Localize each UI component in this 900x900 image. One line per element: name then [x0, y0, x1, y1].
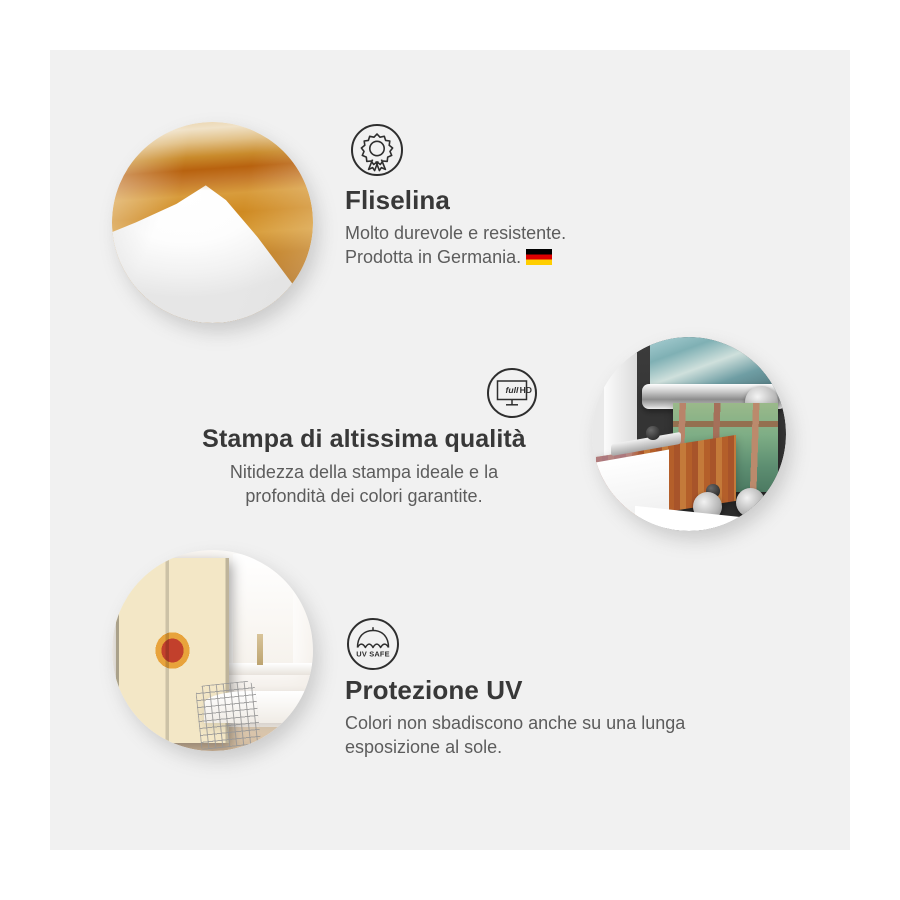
mandala-canvas-room-photo [112, 550, 313, 751]
desc-line-1: Nitidezza della stampa ideale e la [230, 462, 498, 482]
printer-knob [646, 426, 660, 440]
wire-mesh-chair [195, 680, 262, 750]
candlestick [257, 634, 263, 664]
feature-text-uv: Protezione UV Colori non sbadiscono anch… [345, 676, 775, 759]
desc-line-1: Molto durevole e resistente. [345, 223, 566, 243]
printer-wheel [736, 488, 765, 517]
fullhd-monitor-icon: full HD [487, 368, 537, 418]
uv-safe-umbrella-icon: UV SAFE [347, 618, 399, 670]
germany-flag-icon [526, 249, 552, 265]
feature-text-fliselina: Fliselina Molto durevole e resistente. P… [345, 186, 765, 269]
fullhd-label-hd: HD [520, 385, 532, 395]
award-ribbon-icon [351, 124, 403, 176]
feature-desc-uv: Colori non sbadiscono anche su una lunga… [345, 711, 775, 760]
desc-line-2: esposizione al sole. [345, 737, 502, 757]
window-sill [217, 663, 313, 675]
desc-line-1: Colori non sbadiscono anche su una lunga [345, 713, 685, 733]
feature-infographic: Fliselina Molto durevole e resistente. P… [0, 0, 900, 900]
feature-text-stampa: Stampa di altissima qualità Nitidezza de… [180, 426, 548, 508]
desc-line-2: Prodotta in Germania. [345, 247, 521, 267]
fullhd-label-full: full [506, 385, 519, 395]
feature-desc-fliselina: Molto durevole e resistente. Prodotta in… [345, 221, 765, 270]
large-format-printer-photo [592, 337, 786, 531]
feature-title-uv: Protezione UV [345, 676, 775, 705]
uv-safe-label: UV SAFE [356, 649, 389, 658]
feature-title-stampa: Stampa di altissima qualità [180, 426, 548, 454]
room-window [233, 554, 293, 667]
curled-wallpaper-corner-photo [112, 122, 313, 323]
feature-desc-stampa: Nitidezza della stampa ideale e la profo… [180, 460, 548, 509]
feature-title-fliselina: Fliselina [345, 186, 765, 215]
desc-line-2: profondità dei colori garantite. [245, 486, 482, 506]
